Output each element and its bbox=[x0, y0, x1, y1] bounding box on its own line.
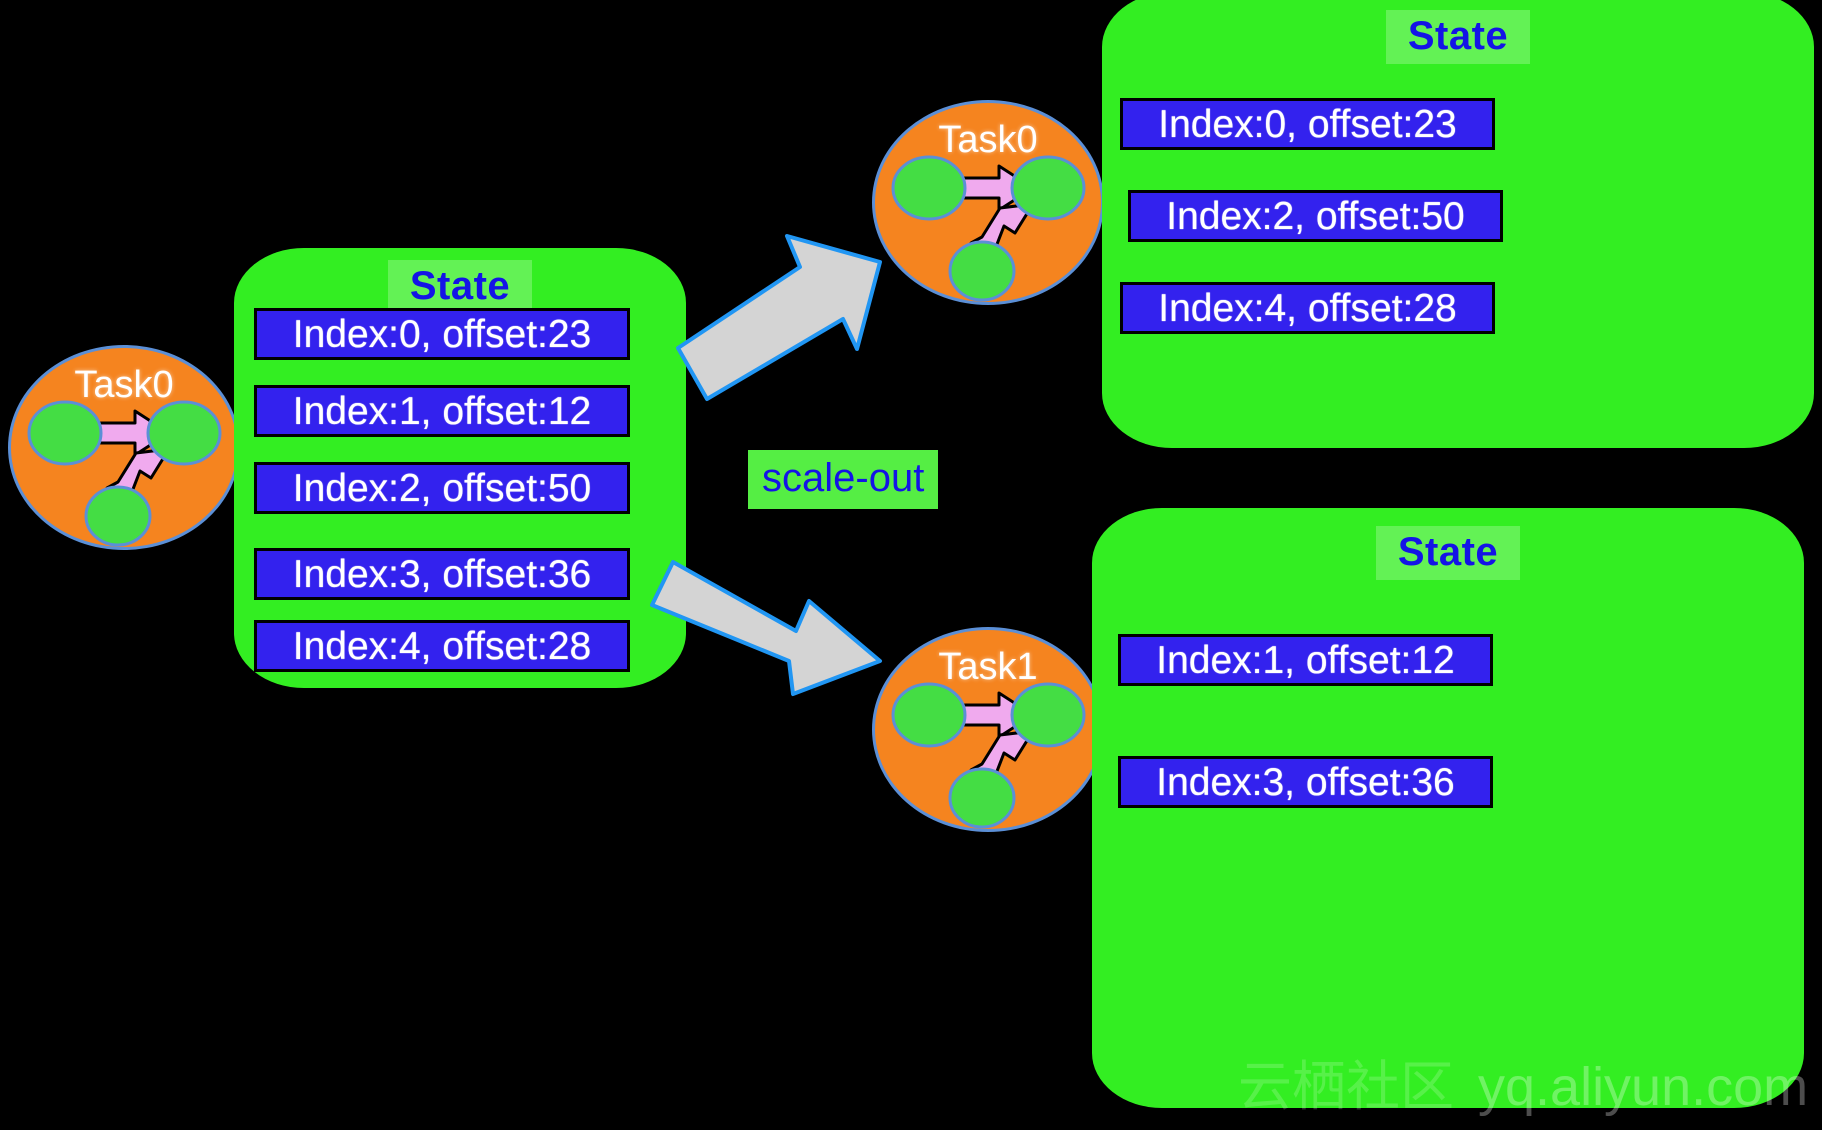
task-label: Task0 bbox=[8, 366, 240, 404]
state-entry[interactable]: Index:4, offset:28 bbox=[1120, 282, 1495, 334]
state-entry[interactable]: Index:3, offset:36 bbox=[1118, 756, 1493, 808]
state-entry[interactable]: Index:2, offset:50 bbox=[1128, 190, 1503, 242]
scale-out-arrow-bottom bbox=[652, 562, 880, 694]
state-entry[interactable]: Index:1, offset:12 bbox=[1118, 634, 1493, 686]
state-entry[interactable]: Index:1, offset:12 bbox=[254, 385, 630, 437]
state-entry[interactable]: Index:3, offset:36 bbox=[254, 548, 630, 600]
state-title: State bbox=[1092, 526, 1804, 580]
state-title: State bbox=[234, 260, 686, 314]
state-entry[interactable]: Index:0, offset:23 bbox=[1120, 98, 1495, 150]
watermark-site-name: 云栖社区 bbox=[1238, 1060, 1454, 1114]
scale-out-label: scale-out bbox=[748, 450, 938, 509]
state-title: State bbox=[1102, 10, 1814, 64]
task-node-after-1[interactable]: Task1 bbox=[872, 627, 1104, 832]
scale-out-arrow-top bbox=[678, 236, 880, 399]
watermark-site-url: yq.aliyun.com bbox=[1478, 1060, 1808, 1114]
task-label: Task1 bbox=[872, 648, 1104, 686]
state-entry[interactable]: Index:2, offset:50 bbox=[254, 462, 630, 514]
state-entry[interactable]: Index:4, offset:28 bbox=[254, 620, 630, 672]
task-node-before[interactable]: Task0 bbox=[8, 345, 240, 550]
state-container-before: State Index:0, offset:23 Index:1, offset… bbox=[234, 248, 686, 688]
state-container-after-0: State Index:0, offset:23 Index:2, offset… bbox=[1102, 0, 1814, 448]
task-label: Task0 bbox=[872, 121, 1104, 159]
diagram-canvas: Task0 State Index:0, offset:23 Index:1, … bbox=[0, 0, 1822, 1130]
state-container-after-1: State Index:1, offset:12 Index:3, offset… bbox=[1092, 508, 1804, 1108]
state-entry[interactable]: Index:0, offset:23 bbox=[254, 308, 630, 360]
task-node-after-0[interactable]: Task0 bbox=[872, 100, 1104, 305]
